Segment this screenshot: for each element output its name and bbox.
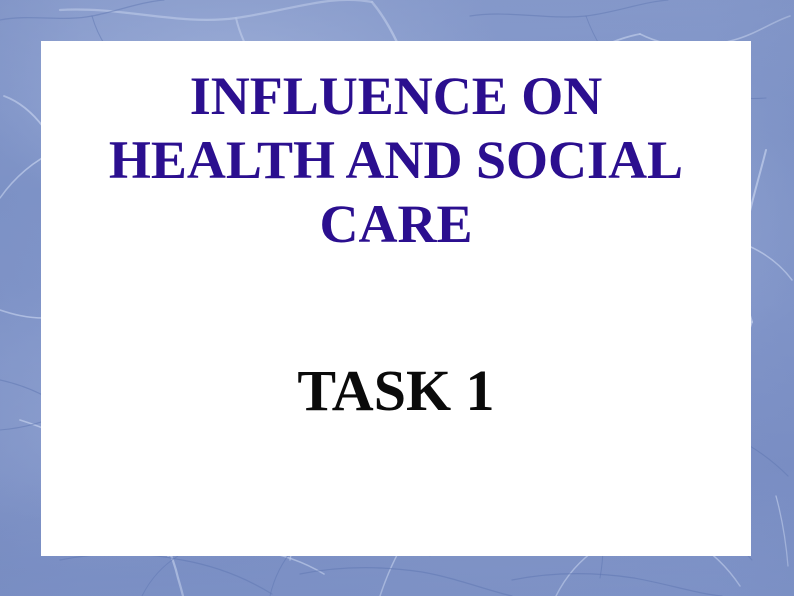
slide-subtitle: TASK 1 xyxy=(41,357,751,425)
slide-title-line-2: HEALTH AND SOCIAL xyxy=(41,128,751,192)
slide-title-line-3: CARE xyxy=(41,192,751,256)
slide-title: INFLUENCE ON HEALTH AND SOCIAL CARE xyxy=(41,64,751,256)
slide-content-card: INFLUENCE ON HEALTH AND SOCIAL CARE TASK… xyxy=(41,41,751,556)
slide-title-line-1: INFLUENCE ON xyxy=(41,64,751,128)
slide-subtitle-block: TASK 1 xyxy=(41,357,751,425)
presentation-slide: INFLUENCE ON HEALTH AND SOCIAL CARE TASK… xyxy=(0,0,794,596)
